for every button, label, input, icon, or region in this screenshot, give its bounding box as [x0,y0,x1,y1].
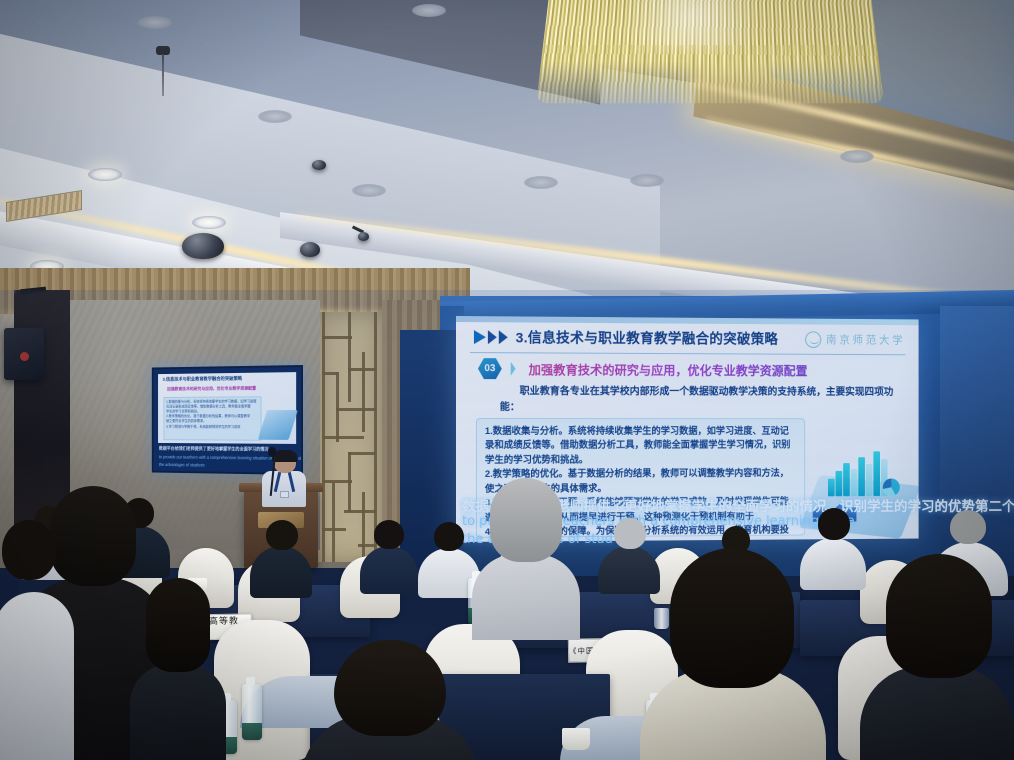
audience-head [490,478,562,562]
audience-head [374,520,404,549]
university-logo: 南京师范大学 [805,331,905,348]
audience-head [2,520,56,580]
dome-camera-icon [358,232,369,241]
university-seal-icon [805,331,821,348]
audience-member [250,520,312,596]
downlight-icon [138,16,172,29]
wall-speaker-icon [4,328,44,380]
side-caption-english-2: the advantages of students [159,462,205,467]
downlight-icon [88,168,122,181]
audience-member-foreground [640,548,826,760]
presenter-badge [280,491,289,498]
audience-torso [130,664,226,760]
audience-head [886,554,992,678]
downlight-icon [258,110,292,123]
dome-camera-icon [182,233,224,259]
audience-head [950,510,986,544]
audience-member-foreground [472,478,580,628]
slide-section-row: 03 加强教育技术的研究与应用，优化专业教学资源配置 [478,358,904,380]
slide-body-line: 学生的学习优势和挑战。 [485,453,797,468]
side-caption-chinese: 数据平台给我们老师提供了更好地掌握学生的全面学习的情况 [159,446,269,453]
audience-torso [250,546,312,598]
side-monitor-slide: 3.信息技术与职业教育教学融合的突破策略 加强教育技术的研究与应用，优化专业教学… [158,372,296,444]
ceiling-hanger-wire [162,54,164,96]
audience-torso [360,546,418,594]
audience-head [434,522,464,551]
downlight-icon [630,174,664,187]
chart-bar [843,463,850,496]
audience-head [146,578,210,672]
audience-torso [472,554,580,640]
side-slide-body: 1.数据收集与分析。系统将持续收集学生的学习数据，如学习进度 互动记录和成绩反馈… [163,396,261,440]
ceiling [0,0,1014,300]
chart-bar [873,451,880,496]
downlight-icon [352,184,386,197]
audience-member-foreground [130,578,226,760]
audience-torso [0,592,74,760]
audience-head [334,640,446,736]
conference-hall-photo: 3.信息技术与职业教育教学融合的突破策略 南京师范大学 03 加强教育技术的研究… [0,0,1014,760]
dome-camera-icon [300,242,320,257]
slide-body-line: 录和成绩反馈等。借助数据分析工具，教师能全面掌握学生学习情况，识别 [485,439,797,454]
audience-torso [860,666,1014,760]
audience-member-foreground [860,554,1014,760]
slide-lead-paragraph: 职业教育各专业在其学校内部形成一个数据驱动教学决策的支持系统，主要实现四项功能： [500,384,896,416]
downlight-icon [840,150,874,163]
slide-header-rule [470,352,905,355]
audience-head [266,520,298,550]
downlight-icon [192,216,226,229]
section-number-badge: 03 [478,358,502,379]
audience-member-foreground [300,640,480,760]
side-body-line: 3.学习预测与早期干预。系统能够预测学生的学习成效 [166,424,258,429]
chandelier [536,0,884,103]
slide-section-title: 加强教育技术的研究与应用，优化专业教学资源配置 [529,359,808,379]
side-slide-illustration [258,410,298,440]
presenter [262,452,306,506]
downlight-icon [524,176,558,189]
paper-cup-icon [562,728,590,750]
chart-bar [858,457,865,496]
slide-header-title: 3.信息技术与职业教育教学融合的突破策略 [516,327,778,348]
audience-member [360,520,418,592]
audience-head [670,548,794,688]
chevron-right-icon [474,330,508,344]
university-name: 南京师范大学 [826,331,905,347]
water-bottle-icon [242,684,262,740]
presenter-torso [262,471,306,507]
audience-head [614,518,646,549]
microphone-icon [268,447,276,457]
downlight-icon [412,4,446,17]
side-slide-title: 3.信息技术与职业教育教学融合的突破策略 [163,376,243,383]
chart-bar [866,464,873,496]
side-slide-section-title: 加强教育技术的研究与应用，优化专业教学资源配置 [167,385,256,392]
audience-head [818,508,850,540]
slide-header: 3.信息技术与职业教育教学融合的突破策略 南京师范大学 [474,324,905,352]
section-arrow-icon [511,362,520,376]
audience-member-foreground [0,520,74,760]
slide-body-line: 1.数据收集与分析。系统将持续收集学生的学习数据，如学习进度、互动记 [485,425,797,439]
dome-camera-icon [312,160,326,170]
